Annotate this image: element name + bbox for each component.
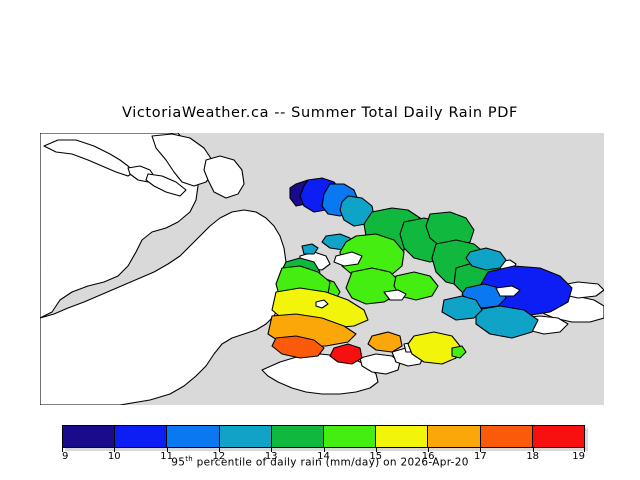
colorbar-gradient[interactable] — [62, 425, 585, 448]
rain-percentile-map — [0, 0, 640, 480]
colorbar-segment-6 — [376, 426, 428, 447]
colorbar-segment-2 — [167, 426, 219, 447]
caption-prefix: 95 — [171, 457, 185, 469]
colorbar-segment-5 — [324, 426, 376, 447]
colorbar-segment-1 — [115, 426, 167, 447]
colorbar-segment-4 — [272, 426, 324, 447]
colorbar-segment-9 — [533, 426, 584, 447]
colorbar-segment-7 — [428, 426, 480, 447]
caption-rest: percentile of daily rain (mm/day) on 202… — [193, 457, 469, 469]
colorbar-segment-8 — [481, 426, 533, 447]
colorbar-segment-3 — [220, 426, 272, 447]
colorbar-caption: 95th percentile of daily rain (mm/day) o… — [0, 455, 640, 469]
caption-superscript: th — [185, 455, 193, 463]
map-page: VictoriaWeather.ca -- Summer Total Daily… — [0, 0, 640, 480]
colorbar: 910111213141516171819 — [62, 425, 585, 448]
colorbar-segment-0 — [63, 426, 115, 447]
